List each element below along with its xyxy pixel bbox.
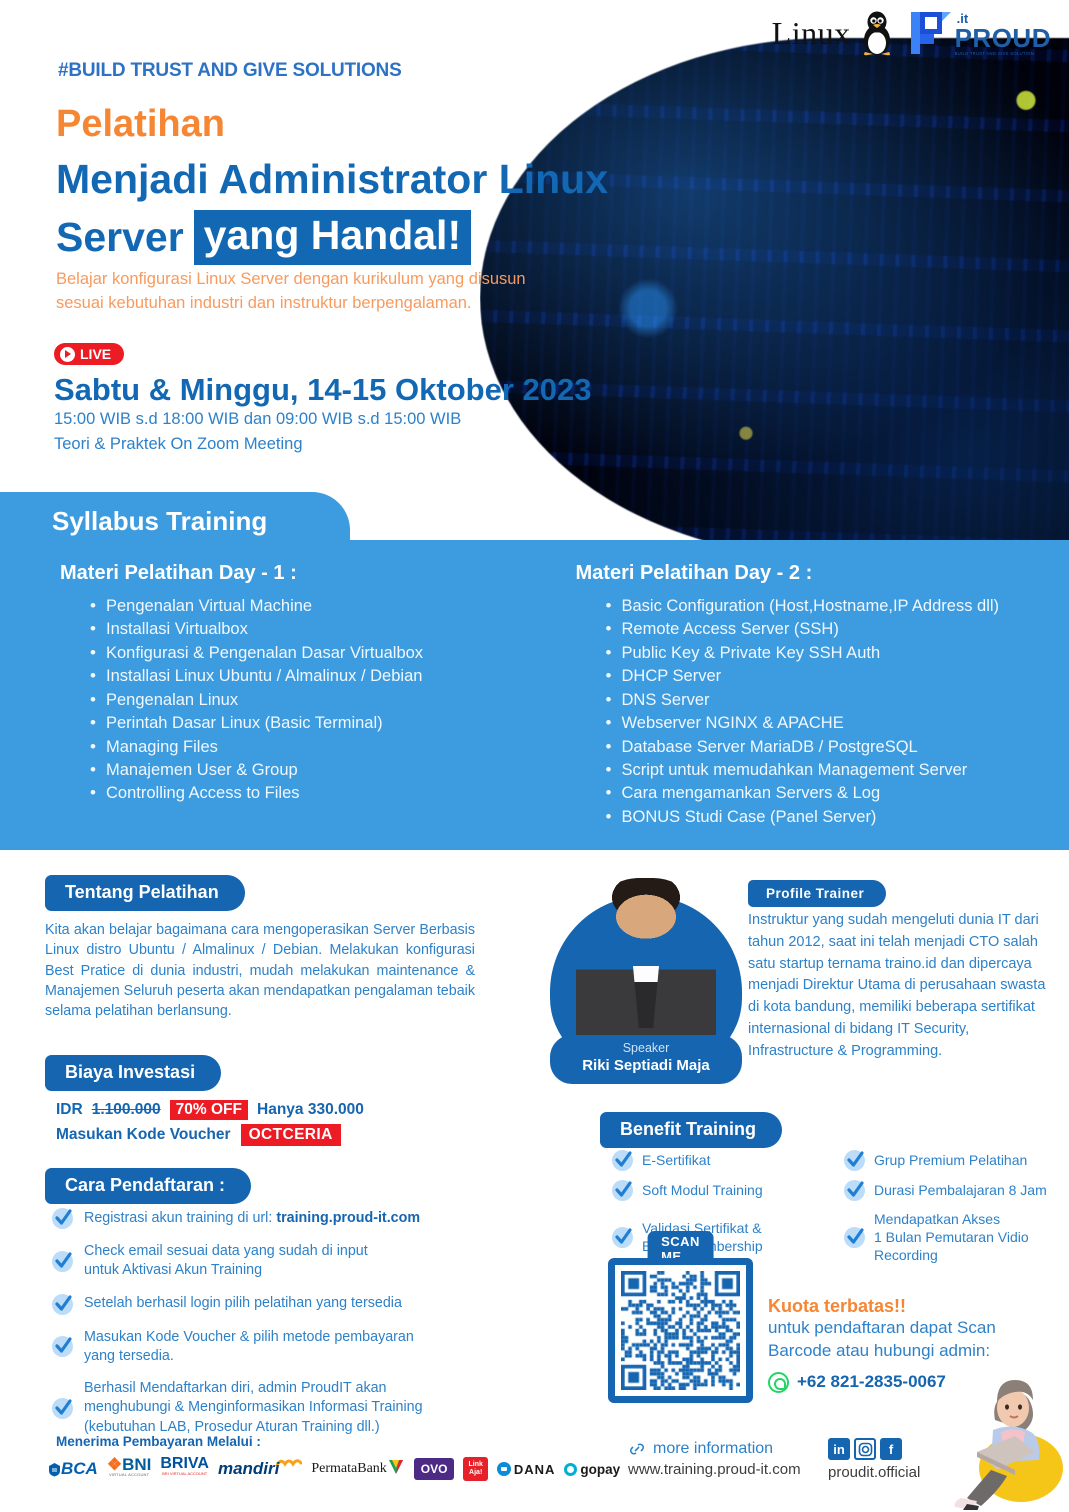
- day2-list: Basic Configuration (Host,Hostname,IP Ad…: [576, 595, 1069, 829]
- check-icon: [52, 1336, 73, 1357]
- website-url[interactable]: www.training.proud-it.com: [628, 1461, 801, 1478]
- syllabus-item: Managing Files: [90, 736, 554, 759]
- check-icon: [844, 1227, 865, 1248]
- voucher-code: OCTCERIA: [241, 1124, 341, 1146]
- event-date: Sabtu & Minggu, 14-15 Oktober 2023: [54, 372, 591, 408]
- syllabus-item: Public Key & Private Key SSH Auth: [606, 642, 1069, 665]
- ovo-label: OVO: [414, 1458, 455, 1480]
- whatsapp-icon: [768, 1372, 789, 1393]
- link-icon: [628, 1442, 646, 1456]
- speaker-photo: [576, 878, 716, 1054]
- syllabus-tab: Syllabus Training: [0, 492, 350, 550]
- payment-logo-gopay: gopay: [564, 1456, 620, 1482]
- benefit-item: E-Sertifikat: [612, 1150, 830, 1171]
- payments-title: Menerima Pembayaran Melalui :: [56, 1434, 261, 1449]
- payment-logo-ovo: OVO: [414, 1456, 455, 1482]
- syllabus-item: Installasi Virtualbox: [90, 618, 554, 641]
- linux-logo: Linux: [772, 10, 897, 56]
- whatsapp-row[interactable]: +62 821-2835-0067: [768, 1372, 996, 1393]
- payment-logo-mandiri: mandiri: [218, 1456, 302, 1482]
- bni-sub: VIRTUAL ACCOUNT: [109, 1473, 149, 1477]
- linux-wordmark: Linux: [772, 15, 851, 52]
- price-final: Hanya 330.000: [257, 1101, 364, 1119]
- day1-heading: Materi Pelatihan Day - 1 :: [60, 562, 554, 585]
- syllabus-item: Script untuk memudahkan Management Serve…: [606, 759, 1069, 782]
- voucher-row: Masukan Kode Voucher OCTCERIA: [56, 1124, 341, 1146]
- syllabus-item: Pengenalan Linux: [90, 689, 554, 712]
- registration-step-link[interactable]: training.proud-it.com: [276, 1210, 420, 1226]
- syllabus-item: Database Server MariaDB / PostgreSQL: [606, 736, 1069, 759]
- cta-line1: untuk pendaftaran dapat Scan: [768, 1317, 996, 1340]
- poster-root: Linux .it PROUD: [0, 0, 1069, 1512]
- benefit-label: Grup Premium Pelatihan: [874, 1151, 1027, 1169]
- syllabus-item: Pengenalan Virtual Machine: [90, 595, 554, 618]
- main-title-line2: Server yang Handal!: [56, 210, 471, 265]
- cta-headline: Kuota terbatas!!: [768, 1296, 996, 1317]
- benefit-label: Mendapatkan Akses1 Bulan Pemutaran Vidio…: [874, 1210, 1062, 1265]
- briva-label: BRIVA: [160, 1456, 209, 1472]
- about-body: Kita akan belajar bagaimana cara mengope…: [45, 920, 475, 1021]
- more-info-row: more information: [628, 1440, 801, 1458]
- event-time: 15:00 WIB s.d 18:00 WIB dan 09:00 WIB s.…: [54, 410, 461, 429]
- benefit-item: Mendapatkan Akses1 Bulan Pemutaran Vidio…: [844, 1210, 1062, 1265]
- syllabus-item: Controlling Access to Files: [90, 782, 554, 805]
- hero-subtitle: Belajar konfigurasi Linux Server dengan …: [56, 268, 576, 316]
- qr-code-image[interactable]: [621, 1271, 740, 1390]
- check-icon: [844, 1150, 865, 1171]
- bca-mark-icon: [48, 1462, 61, 1477]
- play-icon: [60, 347, 75, 362]
- registration-step-text: Setelah berhasil login pilih pelatihan y…: [84, 1294, 402, 1313]
- benefit-label: Durasi Pembalajaran 8 Jam: [874, 1181, 1047, 1199]
- tux-penguin-icon: [857, 10, 897, 56]
- syllabus-day2-column: Materi Pelatihan Day - 2 : Basic Configu…: [554, 562, 1069, 829]
- social-block: in f proudit.official: [828, 1438, 920, 1481]
- registration-step: Masukan Kode Voucher & pilih metode pemb…: [52, 1328, 522, 1367]
- gopay-mark-icon: [564, 1463, 577, 1476]
- check-icon: [52, 1294, 73, 1315]
- day2-heading: Materi Pelatihan Day - 2 :: [576, 562, 1069, 585]
- whatsapp-number[interactable]: +62 821-2835-0067: [797, 1372, 946, 1392]
- check-icon: [612, 1150, 633, 1171]
- proudit-tagline: BUILD TRUST AND GIVE SOLUTION: [955, 52, 1051, 56]
- permata-mark-icon: [387, 1458, 405, 1480]
- registration-step: Setelah berhasil login pilih pelatihan y…: [52, 1294, 522, 1315]
- speaker-card: Speaker Riki Septiadi Maja: [550, 878, 742, 1078]
- trainer-body: Instruktur yang sudah mengeluti dunia IT…: [748, 910, 1048, 1062]
- registration-steps: Registrasi akun training di url: trainin…: [52, 1208, 522, 1450]
- syllabus-item: Installasi Linux Ubuntu / Almalinux / De…: [90, 665, 554, 688]
- syllabus-columns: Materi Pelatihan Day - 1 : Pengenalan Vi…: [0, 562, 1069, 829]
- brand-logos: Linux .it PROUD: [772, 8, 1051, 58]
- price-currency: IDR: [56, 1101, 83, 1119]
- proudit-wordmark: PROUD: [955, 25, 1051, 51]
- registration-step-text: Check email sesuai data yang sudah di in…: [84, 1242, 368, 1281]
- more-information: more information www.training.proud-it.c…: [628, 1440, 801, 1478]
- registration-step-text: Berhasil Mendaftarkan diri, admin ProudI…: [84, 1379, 423, 1437]
- proudit-logo: .it PROUD BUILD TRUST AND GIVE SOLUTION: [909, 8, 1051, 58]
- cta-line2: Barcode atau hubungi admin:: [768, 1340, 996, 1363]
- syllabus-item: Manajemen User & Group: [90, 759, 554, 782]
- syllabus-item: DNS Server: [606, 689, 1069, 712]
- payment-logo-linkaja: LinkAja!: [463, 1456, 487, 1482]
- hashtag-slogan: #BUILD TRUST AND GIVE SOLUTIONS: [58, 60, 402, 82]
- benefit-item: Soft Modul Training: [612, 1180, 830, 1201]
- registration-pill: Cara Pendaftaran :: [45, 1168, 251, 1204]
- check-icon: [52, 1398, 73, 1419]
- about-pill: Tentang Pelatihan: [45, 875, 245, 911]
- qr-block: SCAN ME: [608, 1258, 753, 1403]
- bca-label: BCA: [61, 1459, 98, 1479]
- mandiri-label: mandiri: [218, 1459, 279, 1479]
- benefit-item: Durasi Pembalajaran 8 Jam: [844, 1180, 1062, 1201]
- trainer-pill: Profile Trainer: [748, 880, 886, 907]
- main-title-line1: Menjadi Administrator Linux: [56, 156, 608, 203]
- registration-step: Berhasil Mendaftarkan diri, admin ProudI…: [52, 1379, 522, 1437]
- social-icons: in f: [828, 1438, 920, 1460]
- dana-label: DANA: [497, 1462, 556, 1477]
- more-info-label: more information: [653, 1440, 773, 1458]
- proudit-mark-icon: [909, 8, 953, 58]
- payment-logo-bca: BCA: [48, 1456, 98, 1482]
- mandiri-wave-icon: [276, 1458, 302, 1468]
- price-pill: Biaya Investasi: [45, 1055, 221, 1091]
- linkedin-icon[interactable]: in: [828, 1438, 850, 1460]
- check-icon: [844, 1180, 865, 1201]
- registration-step: Registrasi akun training di url: trainin…: [52, 1208, 522, 1229]
- social-handle: proudit.official: [828, 1464, 920, 1481]
- live-badge: LIVE: [54, 343, 124, 365]
- main-title-plain: Server: [56, 214, 184, 261]
- payment-logo-dana: DANA: [497, 1456, 556, 1482]
- syllabus-item: BONUS Studi Case (Panel Server): [606, 806, 1069, 829]
- bni-label: ❖BNI: [107, 1456, 152, 1473]
- benefit-item: Validasi Sertifikat &Bonus Membership: [612, 1210, 830, 1265]
- syllabus-tab-label: Syllabus Training: [52, 506, 267, 537]
- syllabus-item: Konfigurasi & Pengenalan Dasar Virtualbo…: [90, 642, 554, 665]
- qr-frame: SCAN ME: [608, 1258, 753, 1403]
- registration-step-text: Registrasi akun training di url: trainin…: [84, 1209, 420, 1228]
- speaker-role: Speaker: [550, 1042, 742, 1056]
- syllabus-item: Cara mengamankan Servers & Log: [606, 782, 1069, 805]
- price-original: 1.100.000: [92, 1101, 161, 1119]
- payment-logo-permata: PermataBank: [311, 1456, 404, 1482]
- syllabus-item: DHCP Server: [606, 665, 1069, 688]
- benefit-item: Grup Premium Pelatihan: [844, 1150, 1062, 1171]
- event-mode: Teori & Praktek On Zoom Meeting: [54, 435, 303, 454]
- speaker-label: Speaker Riki Septiadi Maja: [550, 1035, 742, 1084]
- cta-block: Kuota terbatas!! untuk pendaftaran dapat…: [768, 1296, 996, 1393]
- syllabus-item: Basic Configuration (Host,Hostname,IP Ad…: [606, 595, 1069, 618]
- benefits-pill: Benefit Training: [600, 1112, 782, 1148]
- syllabus-day1-column: Materi Pelatihan Day - 1 : Pengenalan Vi…: [0, 562, 554, 829]
- speaker-name: Riki Septiadi Maja: [550, 1056, 742, 1076]
- briva-sub: BRI VIRTUAL ACCOUNT: [162, 1472, 207, 1476]
- check-icon: [52, 1251, 73, 1272]
- registration-step: Check email sesuai data yang sudah di in…: [52, 1242, 522, 1281]
- benefit-label: E-Sertifikat: [642, 1151, 710, 1169]
- registration-step-text: Masukan Kode Voucher & pilih metode pemb…: [84, 1328, 414, 1367]
- dana-mark-icon: [497, 1462, 511, 1476]
- check-icon: [612, 1227, 633, 1248]
- check-icon: [52, 1208, 73, 1229]
- instagram-icon[interactable]: [854, 1438, 876, 1460]
- payment-logos: BCA ❖BNI VIRTUAL ACCOUNT BRIVA BRI VIRTU…: [48, 1456, 620, 1482]
- discount-badge: 70% OFF: [170, 1100, 248, 1120]
- permata-label: PermataBank: [311, 1461, 386, 1477]
- syllabus-item: Remote Access Server (SSH): [606, 618, 1069, 641]
- payment-logo-bni: ❖BNI VIRTUAL ACCOUNT: [107, 1456, 152, 1482]
- eyebrow-title: Pelatihan: [56, 103, 225, 146]
- syllabus-item: Perintah Dasar Linux (Basic Terminal): [90, 712, 554, 735]
- live-label: LIVE: [80, 346, 111, 362]
- facebook-icon[interactable]: f: [880, 1438, 902, 1460]
- main-title-highlight: yang Handal!: [194, 210, 471, 265]
- payment-logo-briva: BRIVA BRI VIRTUAL ACCOUNT: [160, 1456, 209, 1482]
- voucher-label: Masukan Kode Voucher: [56, 1126, 231, 1144]
- linkaja-label: LinkAja!: [463, 1457, 487, 1480]
- check-icon: [612, 1180, 633, 1201]
- benefit-label: Soft Modul Training: [642, 1181, 763, 1199]
- gopay-label: gopay: [564, 1462, 620, 1477]
- price-row: IDR 1.100.000 70% OFF Hanya 330.000: [56, 1100, 364, 1120]
- day1-list: Pengenalan Virtual MachineInstallasi Vir…: [60, 595, 554, 806]
- syllabus-item: Webserver NGINX & APACHE: [606, 712, 1069, 735]
